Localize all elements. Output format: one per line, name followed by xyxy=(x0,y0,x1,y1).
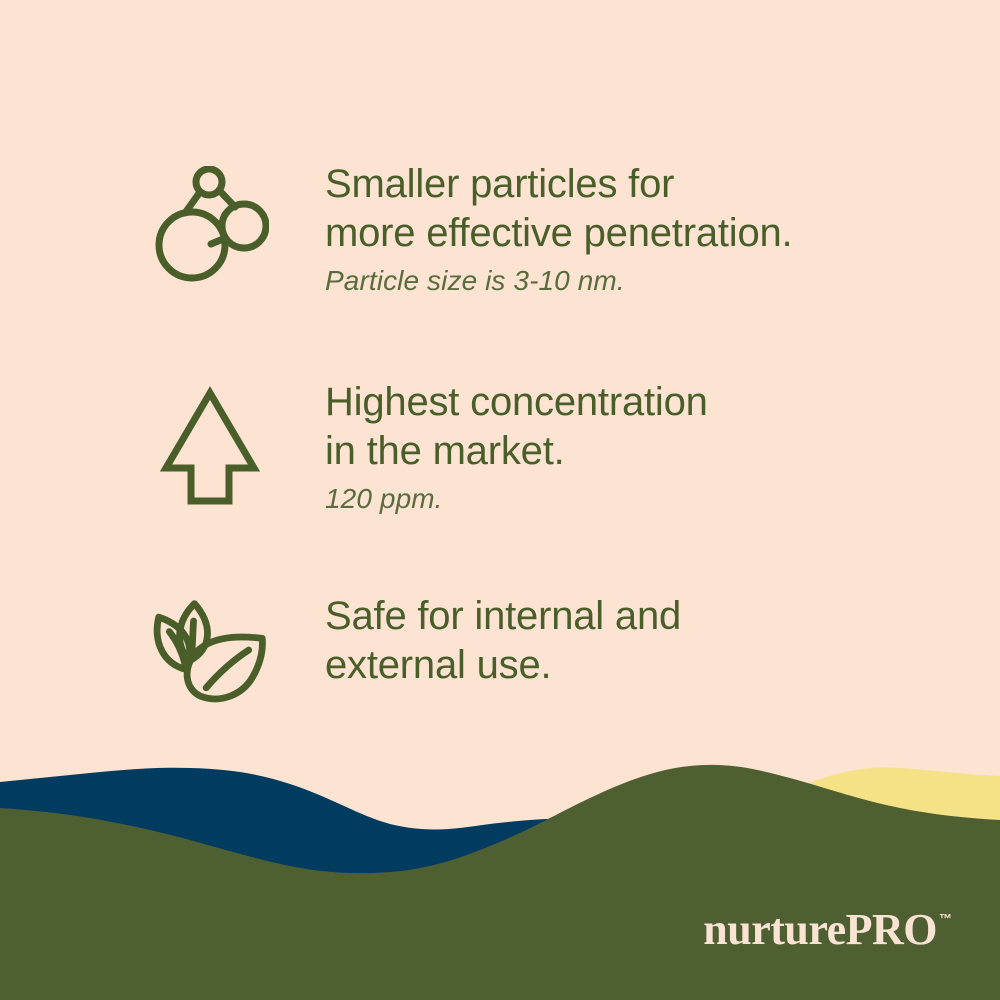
trademark-symbol: ™ xyxy=(939,912,952,925)
poster-canvas: Smaller particles for more effective pen… xyxy=(0,0,1000,1000)
feature-text-block: Safe for internal and external use. xyxy=(325,592,681,694)
feature-text-block: Smaller particles for more effective pen… xyxy=(325,160,792,300)
brand-logo: nurturePRO ™ xyxy=(703,908,952,952)
feature-subtitle: 120 ppm. xyxy=(325,480,708,518)
up-arrow-icon xyxy=(150,378,270,498)
feature-title: Safe for internal and external use. xyxy=(325,592,681,690)
feature-item-highest-concentration: Highest concentration in the market. 120… xyxy=(150,378,708,518)
feature-title: Smaller particles for more effective pen… xyxy=(325,160,792,258)
feature-item-smaller-particles: Smaller particles for more effective pen… xyxy=(150,160,792,300)
feature-title: Highest concentration in the market. xyxy=(325,378,708,476)
feature-subtitle: Particle size is 3-10 nm. xyxy=(325,262,792,300)
molecule-icon xyxy=(150,160,270,280)
landscape-illustration xyxy=(0,740,1000,1000)
leaves-icon xyxy=(150,592,270,712)
feature-item-safe-use: Safe for internal and external use. xyxy=(150,592,681,712)
feature-text-block: Highest concentration in the market. 120… xyxy=(325,378,708,518)
brand-logo-wordmark: nurturePRO xyxy=(703,908,937,952)
